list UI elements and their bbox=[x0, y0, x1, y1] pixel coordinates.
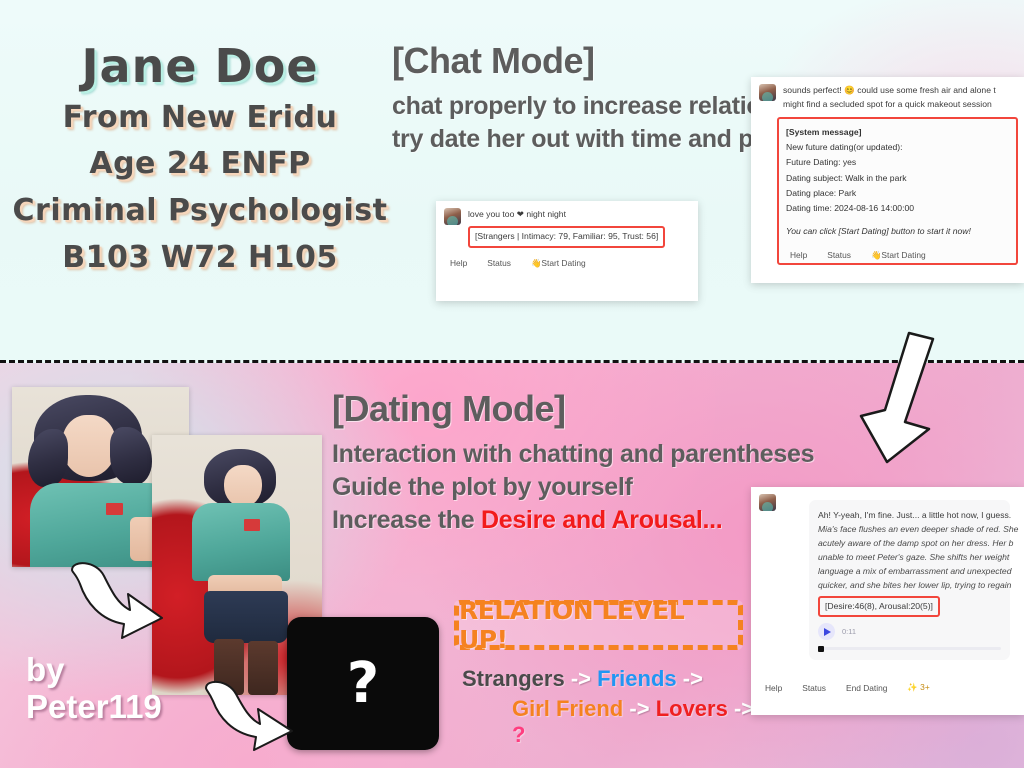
question-mark-icon: ? bbox=[347, 656, 379, 712]
relation-ladder-row-2: Girl Friend -> Lovers -> ? bbox=[440, 696, 760, 748]
dating-chat-panel: Ah! Y-yeah, I'm fine. Just... a little h… bbox=[751, 487, 1024, 715]
ladder-friends: Friends bbox=[597, 666, 676, 691]
dating-message-body: Ah! Y-yeah, I'm fine. Just... a little h… bbox=[783, 494, 1016, 660]
ladder-strangers: Strangers bbox=[462, 666, 565, 691]
ladder-arrow-1: -> bbox=[571, 666, 591, 691]
curved-arrow-icon bbox=[200, 678, 300, 758]
system-panel-message-row: sounds perfect! 😊 could use some fresh a… bbox=[751, 77, 1024, 114]
status-button[interactable]: Status bbox=[817, 248, 861, 263]
character-origin: From New Eridu bbox=[0, 97, 400, 140]
dating-line-6: quicker, and she bites her lower lip, tr… bbox=[818, 579, 1001, 593]
relation-level-up-badge: RELATION LEVEL UP! bbox=[454, 600, 743, 650]
curved-arrow-icon bbox=[66, 558, 171, 650]
dating-panel-toolbar: Help Status End Dating ✨ 3+ bbox=[751, 674, 1024, 703]
dating-line-1: Ah! Y-yeah, I'm fine. Just... a little h… bbox=[818, 509, 1001, 523]
character-info-block: Jane Doe From New Eridu Age 24 ENFP Crim… bbox=[0, 40, 400, 279]
dating-line-4: unable to meet Peter's gaze. She shifts … bbox=[818, 551, 1001, 565]
system-message-panel: sounds perfect! 😊 could use some fresh a… bbox=[751, 77, 1024, 283]
desire-arousal-box: [Desire:46(8), Arousal:20(5)] bbox=[818, 596, 940, 618]
relation-level-up-text: RELATION LEVEL UP! bbox=[459, 596, 738, 654]
system-hint-text: You can click [Start Dating] button to s… bbox=[786, 224, 1009, 239]
play-icon[interactable] bbox=[818, 623, 835, 640]
character-name: Jane Doe bbox=[0, 40, 400, 93]
ladder-arrow-2: -> bbox=[683, 666, 703, 691]
dating-mode-heading: [Dating Mode] bbox=[332, 388, 852, 430]
dating-line-5: language a mix of embarrassment and unex… bbox=[818, 565, 1001, 579]
character-measurements: B103 W72 H105 bbox=[0, 237, 400, 280]
dating-message-bubble: Ah! Y-yeah, I'm fine. Just... a little h… bbox=[809, 500, 1010, 660]
help-button[interactable]: Help bbox=[786, 248, 817, 263]
dating-mode-line-3-prefix: Increase the bbox=[332, 506, 481, 534]
system-panel-message-body: sounds perfect! 😊 could use some fresh a… bbox=[783, 84, 1016, 112]
chat-message-text: love you too ❤ night night bbox=[468, 208, 690, 222]
system-message-title: [System message] bbox=[786, 125, 1009, 140]
chat-mode-heading: [Chat Mode] bbox=[392, 40, 822, 82]
system-message-box: [System message] New future dating(or up… bbox=[777, 117, 1018, 265]
dating-mode-line-1: Interaction with chatting and parenthese… bbox=[332, 438, 852, 471]
credit-byline: by Peter119 bbox=[26, 652, 162, 726]
chat-panel-toolbar: Help Status 👋Start Dating bbox=[436, 250, 698, 279]
system-line-new-dating: New future dating(or updated): bbox=[786, 140, 1009, 155]
mystery-card: ? bbox=[287, 617, 439, 750]
audio-duration: 0:11 bbox=[842, 627, 856, 636]
avatar bbox=[444, 208, 461, 225]
system-line-dating-time: Dating time: 2024-08-16 14:00:00 bbox=[786, 201, 1009, 216]
start-dating-button[interactable]: 👋Start Dating bbox=[861, 248, 936, 263]
status-button[interactable]: Status bbox=[477, 256, 521, 270]
end-dating-button[interactable]: End Dating bbox=[836, 681, 897, 695]
relationship-status-text: [Strangers | Intimacy: 79, Familiar: 95,… bbox=[475, 230, 658, 244]
help-button[interactable]: Help bbox=[761, 681, 792, 695]
ladder-arrow-3: -> bbox=[629, 696, 649, 721]
incoming-message-line-1: sounds perfect! 😊 could use some fresh a… bbox=[783, 84, 1016, 98]
ladder-unknown: ? bbox=[512, 722, 525, 747]
start-dating-button[interactable]: 👋Start Dating bbox=[521, 256, 596, 271]
system-line-future-dating: Future Dating: yes bbox=[786, 155, 1009, 170]
credit-author: Peter119 bbox=[26, 689, 162, 726]
down-arrow-icon bbox=[845, 330, 965, 465]
incoming-message-line-2: might find a secluded spot for a quick m… bbox=[783, 98, 1016, 112]
dating-line-2: Mia's face flushes an even deeper shade … bbox=[818, 523, 1001, 537]
dating-line-3: acutely aware of the damp spot on her dr… bbox=[818, 537, 1001, 551]
relation-ladder: Strangers -> Friends -> Girl Friend -> L… bbox=[440, 666, 760, 748]
ladder-girl-friend: Girl Friend bbox=[512, 696, 623, 721]
status-button[interactable]: Status bbox=[792, 681, 836, 695]
relationship-status-box: [Strangers | Intimacy: 79, Familiar: 95,… bbox=[468, 226, 665, 248]
audio-progress-bar[interactable] bbox=[818, 647, 1001, 650]
help-button[interactable]: Help bbox=[446, 256, 477, 270]
dating-stats-wrap: [Desire:46(8), Arousal:20(5)] bbox=[818, 596, 1001, 618]
system-line-dating-subject: Dating subject: Walk in the park bbox=[786, 171, 1009, 186]
system-panel-toolbar: Help Status 👋Start Dating bbox=[786, 248, 1009, 263]
avatar bbox=[759, 84, 776, 101]
credit-by: by bbox=[26, 652, 162, 689]
chat-status-panel: love you too ❤ night night [Strangers | … bbox=[436, 201, 698, 301]
dating-mode-line-3-highlight: Desire and Arousal... bbox=[481, 506, 722, 534]
relation-ladder-row-1: Strangers -> Friends -> bbox=[440, 666, 760, 692]
ladder-lovers: Lovers bbox=[656, 696, 728, 721]
system-line-dating-place: Dating place: Park bbox=[786, 186, 1009, 201]
desire-arousal-text: [Desire:46(8), Arousal:20(5)] bbox=[825, 600, 933, 614]
audio-player[interactable]: 0:11 bbox=[818, 623, 1001, 640]
character-occupation: Criminal Psychologist bbox=[0, 190, 400, 233]
chat-message-body: love you too ❤ night night [Strangers | … bbox=[468, 208, 690, 248]
gems-counter[interactable]: ✨ 3+ bbox=[897, 680, 939, 695]
character-age-mbti: Age 24 ENFP bbox=[0, 143, 400, 186]
chat-message-row: love you too ❤ night night [Strangers | … bbox=[436, 201, 698, 250]
dating-message-row: Ah! Y-yeah, I'm fine. Just... a little h… bbox=[751, 487, 1024, 660]
chat-status-wrap: [Strangers | Intimacy: 79, Familiar: 95,… bbox=[468, 226, 690, 248]
avatar bbox=[759, 494, 776, 511]
